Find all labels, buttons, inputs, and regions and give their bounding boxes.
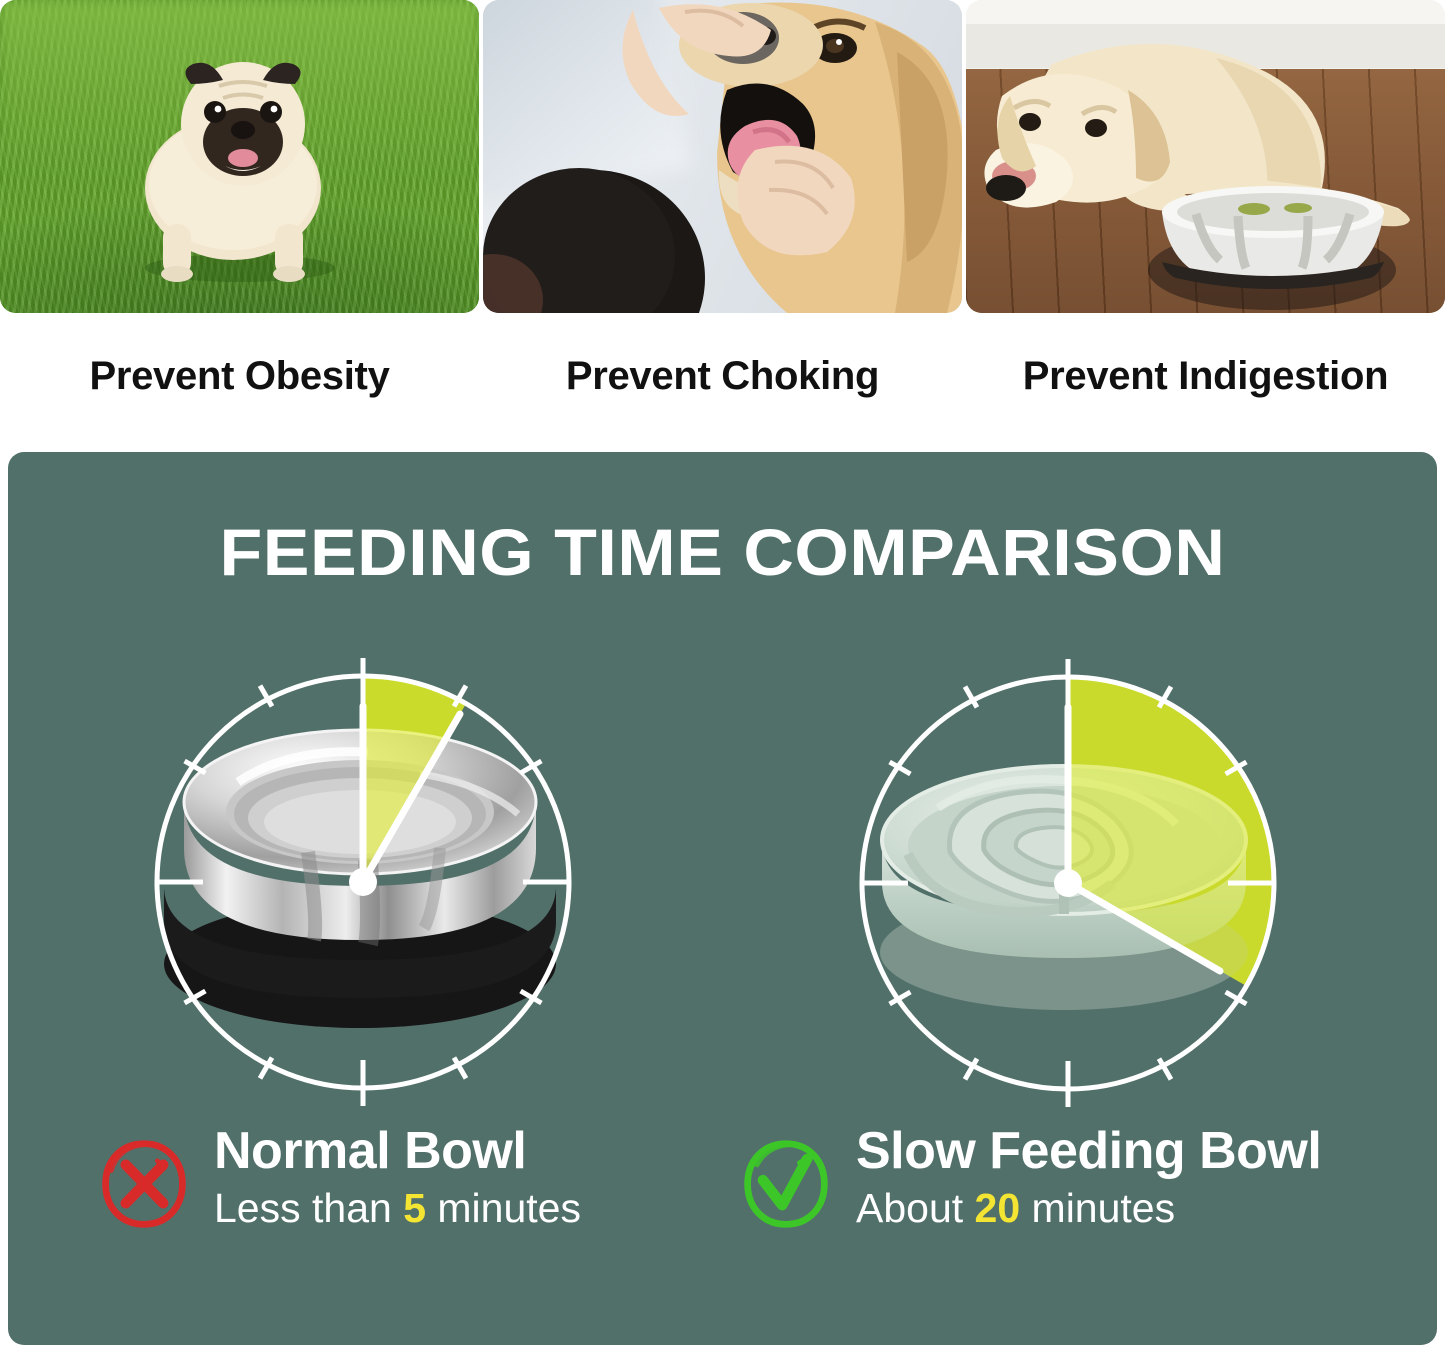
caption-sub-normal: Less than 5 minutes bbox=[214, 1183, 581, 1234]
benefits-image-row bbox=[0, 0, 1445, 320]
feeding-time-comparison-panel: FEEDING TIME COMPARISON bbox=[8, 452, 1437, 1345]
left-clock-hub bbox=[349, 868, 377, 896]
check-circle-icon bbox=[738, 1136, 834, 1232]
benefit-label-indigestion: Prevent Indigestion bbox=[966, 356, 1445, 396]
comparison-captions: Normal Bowl Less than 5 minutes Slow Fee… bbox=[8, 1124, 1437, 1234]
benefit-label-obesity: Prevent Obesity bbox=[0, 356, 479, 396]
pug-illustration bbox=[115, 38, 365, 288]
caption-sub-prefix-normal: Less than bbox=[214, 1185, 403, 1231]
caption-sub-slow: About 20 minutes bbox=[856, 1183, 1321, 1234]
caption-sub-suffix-normal: minutes bbox=[426, 1185, 581, 1231]
vet-examining-dog-illustration bbox=[483, 0, 962, 313]
caption-title-normal: Normal Bowl bbox=[214, 1124, 581, 1179]
benefit-card-choking bbox=[483, 0, 962, 313]
caption-text-normal: Normal Bowl Less than 5 minutes bbox=[214, 1124, 581, 1234]
sad-labrador-illustration bbox=[966, 0, 1445, 313]
caption-sub-value-slow: 20 bbox=[975, 1185, 1021, 1231]
benefit-label-choking: Prevent Choking bbox=[483, 356, 962, 396]
benefit-card-obesity bbox=[0, 0, 479, 313]
caption-sub-suffix-slow: minutes bbox=[1020, 1185, 1175, 1231]
caption-sub-value-normal: 5 bbox=[403, 1185, 426, 1231]
caption-slow-feeding-bowl: Slow Feeding Bowl About 20 minutes bbox=[722, 1124, 1436, 1234]
benefit-card-indigestion bbox=[966, 0, 1445, 313]
caption-sub-prefix-slow: About bbox=[856, 1185, 975, 1231]
caption-title-slow: Slow Feeding Bowl bbox=[856, 1124, 1321, 1179]
right-clock-slow-bowl bbox=[862, 659, 1274, 1107]
left-clock-normal-bowl bbox=[157, 658, 569, 1106]
right-clock-hub bbox=[1054, 869, 1082, 897]
caption-text-slow: Slow Feeding Bowl About 20 minutes bbox=[856, 1124, 1321, 1234]
cross-circle-icon bbox=[96, 1136, 192, 1232]
caption-normal-bowl: Normal Bowl Less than 5 minutes bbox=[8, 1124, 722, 1234]
benefit-labels-row: Prevent Obesity Prevent Choking Prevent … bbox=[0, 320, 1445, 432]
